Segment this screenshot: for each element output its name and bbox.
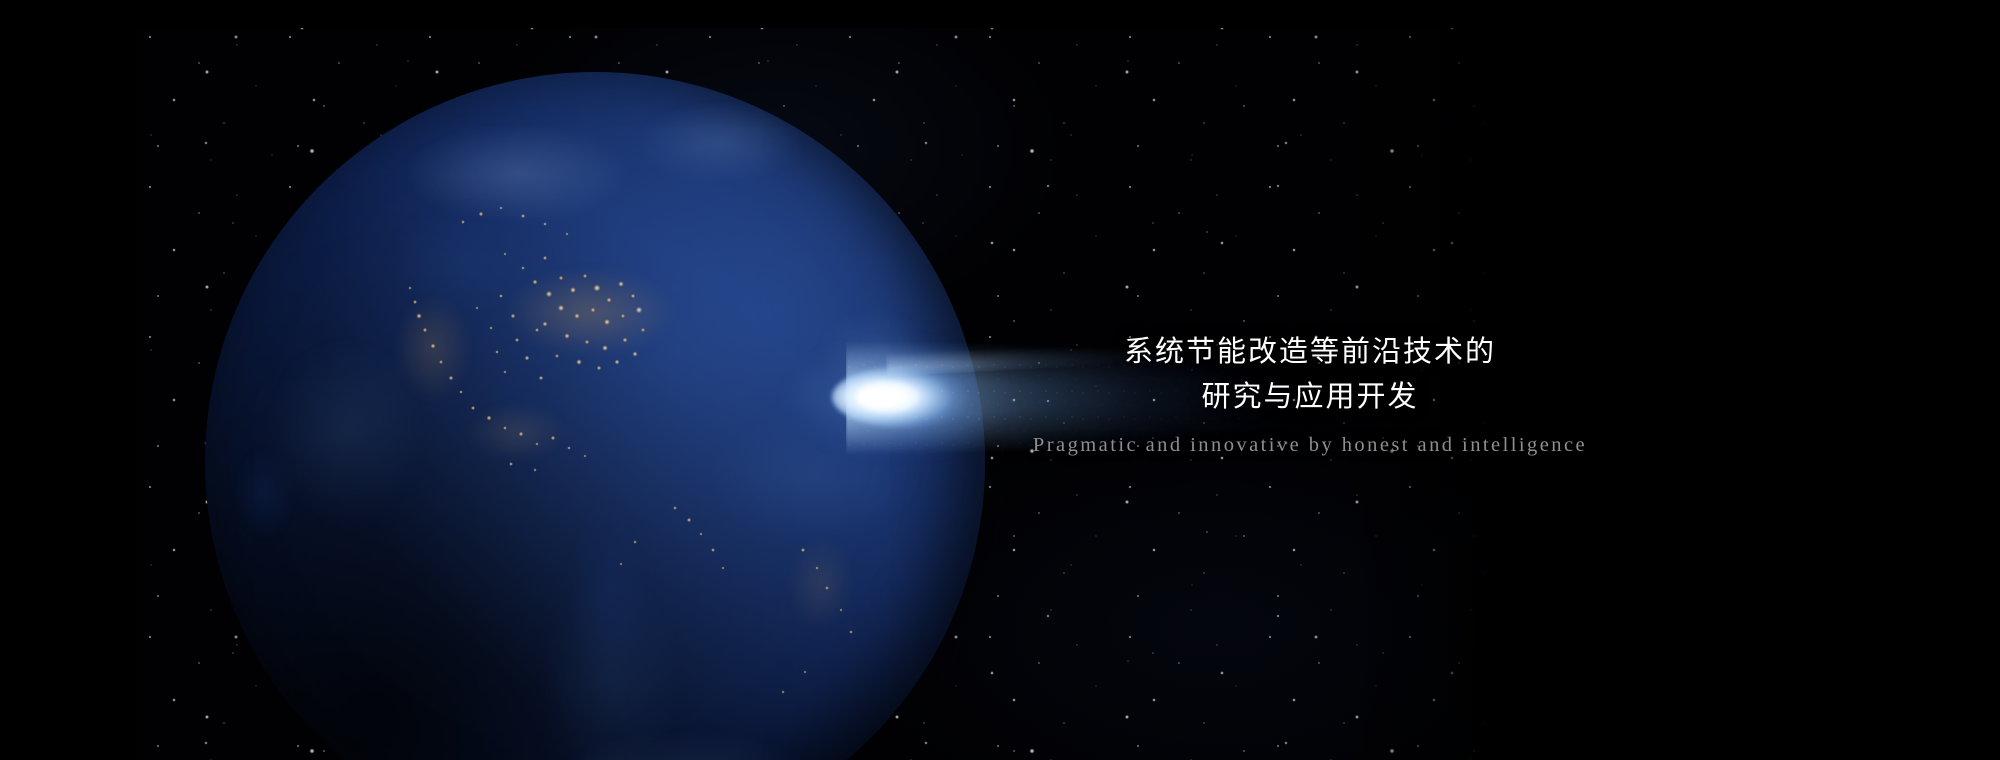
- hero-banner: 系统节能改造等前沿技术的 研究与应用开发 Pragmatic and innov…: [0, 0, 2000, 760]
- edge-vignette: [136, 28, 1490, 760]
- space-background-image: [136, 28, 1490, 760]
